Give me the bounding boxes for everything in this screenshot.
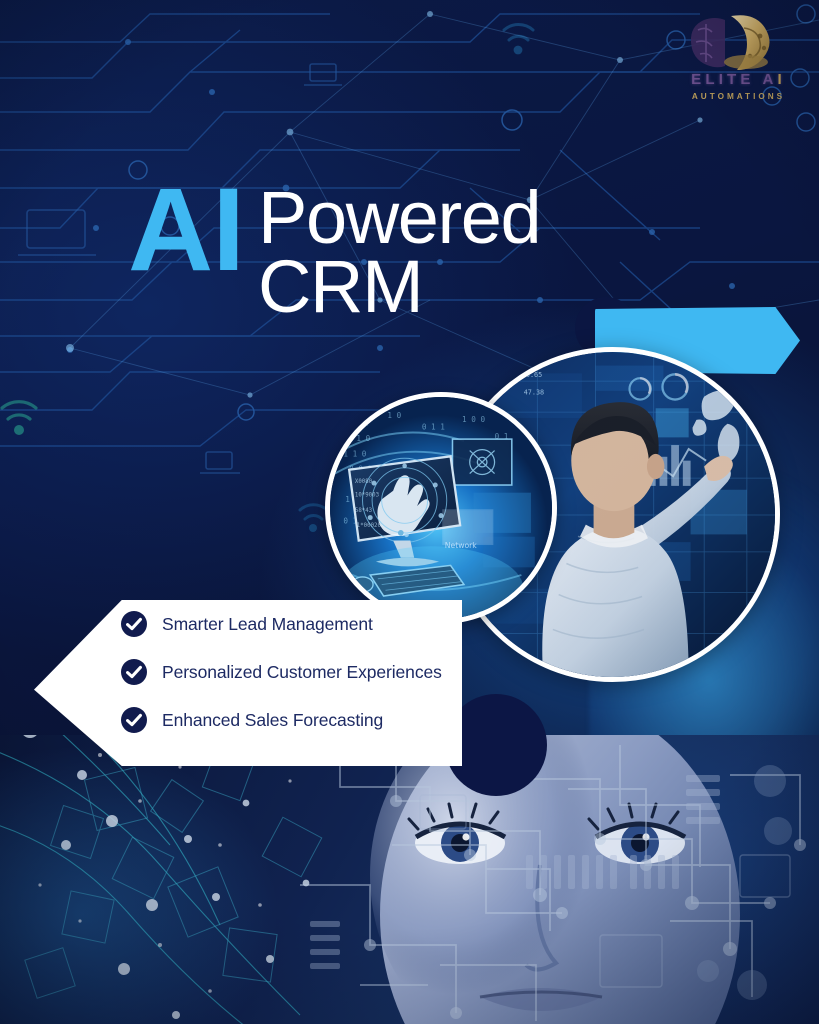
vignette-overlay <box>0 0 819 1024</box>
poster-canvas: ELITE AI AUTOMATIONS AI Powered CRM <box>0 0 819 1024</box>
